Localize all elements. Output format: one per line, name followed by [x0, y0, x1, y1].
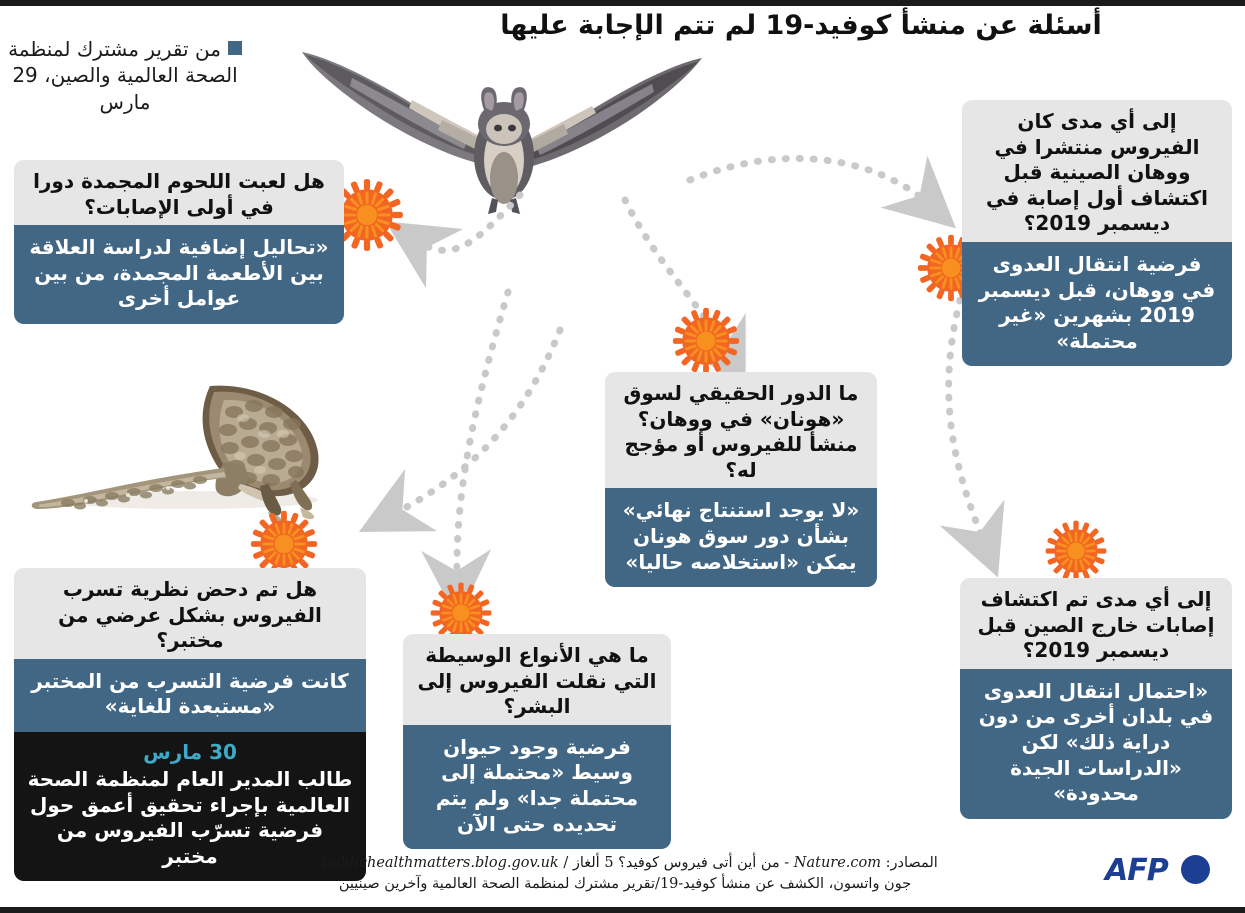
- card-intermediate-species-question: ما هي الأنواع الوسيطة التي نقلت الفيروس …: [403, 634, 671, 731]
- card-intermediate-species: ما هي الأنواع الوسيطة التي نقلت الفيروس …: [403, 634, 671, 849]
- card-intermediate-species-answer: فرضية وجود حيوان وسيط «محتملة إلى محتملة…: [403, 725, 671, 849]
- card-huanan-market-question: ما الدور الحقيقي لسوق «هونان» في ووهان؟ …: [605, 372, 877, 494]
- card-frozen-meat-question: هل لعبت اللحوم المجمدة دورا في أولى الإص…: [14, 160, 344, 231]
- afp-logo: AFP: [1105, 853, 1225, 887]
- sources-line-2: جون واتسون، الكشف عن منشأ كوفيد-19/تقرير…: [125, 874, 1125, 895]
- card-huanan-market: ما الدور الحقيقي لسوق «هونان» في ووهان؟ …: [605, 372, 877, 587]
- card-lab-leak-answer: كانت فرضية التسرب من المختبر «مستبعدة لل…: [14, 659, 366, 732]
- card-frozen-meat-answer: «تحاليل إضافية لدراسة العلاقة بين الأطعم…: [14, 225, 344, 324]
- legend-label: من تقرير مشترك لمنظمة الصحة العالمية وال…: [8, 37, 238, 114]
- sources-link-nature: Nature.com: [794, 855, 881, 871]
- afp-logo-text: AFP: [1105, 853, 1168, 888]
- card-lab-leak: هل تم دحض نظرية تسرب الفيروس بشكل عرضي م…: [14, 568, 366, 881]
- card-spread-wuhan-answer: فرضية انتقال العدوى في ووهان، قبل ديسمبر…: [962, 242, 1232, 366]
- card-lab-leak-note-date: 30 مارس: [27, 739, 353, 765]
- card-frozen-meat: هل لعبت اللحوم المجمدة دورا في أولى الإص…: [14, 160, 344, 324]
- sources-note: المصادر: Nature.com - من أين أتى فيروس ك…: [125, 853, 1125, 895]
- card-outside-china-question: إلى أي مدى تم اكتشاف إصابات خارج الصين ق…: [960, 578, 1232, 675]
- card-outside-china-answer: «احتمال انتقال العدوى في بلدان أخرى من د…: [960, 669, 1232, 819]
- virus-icon-outside-china: [1043, 518, 1109, 584]
- top-rule: [0, 0, 1245, 6]
- bottom-rule: [0, 907, 1245, 913]
- infographic-canvas: أسئلة عن منشأ كوفيد-19 لم تتم الإجابة عل…: [0, 0, 1245, 913]
- card-huanan-market-answer: «لا يوجد استنتاج نهائي» بشأن دور سوق هون…: [605, 488, 877, 587]
- card-outside-china: إلى أي مدى تم اكتشاف إصابات خارج الصين ق…: [960, 578, 1232, 819]
- sources-prefix: المصادر:: [881, 855, 938, 871]
- afp-logo-dot-icon: [1181, 855, 1210, 884]
- legend-square-icon: [228, 41, 242, 55]
- sources-post: -: [312, 855, 322, 871]
- legend: من تقرير مشترك لمنظمة الصحة العالمية وال…: [5, 36, 245, 115]
- sources-link-phm: publichealthmatters.blog.gov.uk: [322, 855, 559, 871]
- card-spread-wuhan: إلى أي مدى كان الفيروس منتشرا في ووهان ا…: [962, 100, 1232, 366]
- sources-mid: - من أين أتى فيروس كوفيد؟ 5 ألغاز /: [559, 855, 794, 871]
- card-spread-wuhan-question: إلى أي مدى كان الفيروس منتشرا في ووهان ا…: [962, 100, 1232, 248]
- sources-line-1: المصادر: Nature.com - من أين أتى فيروس ك…: [125, 853, 1125, 874]
- card-lab-leak-question: هل تم دحض نظرية تسرب الفيروس بشكل عرضي م…: [14, 568, 366, 665]
- virus-icon-huanan-market: [670, 305, 742, 377]
